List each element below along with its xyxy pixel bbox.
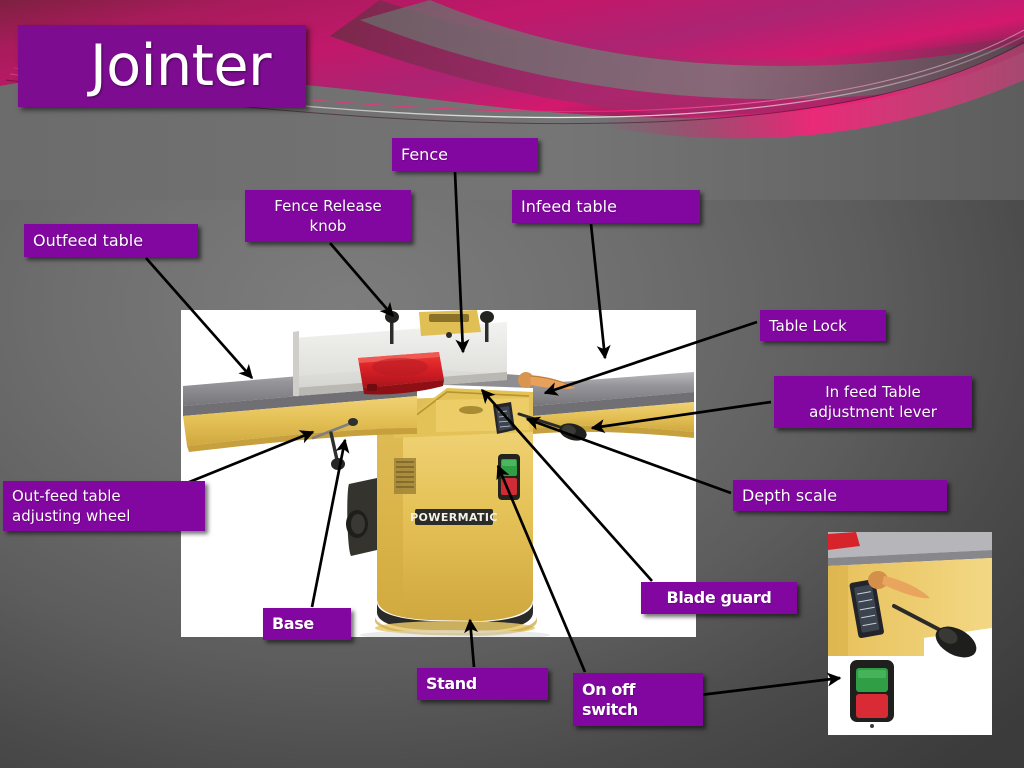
label-line: In feed Table bbox=[825, 382, 921, 402]
label-fence-release-knob[interactable]: Fence Releaseknob bbox=[245, 190, 411, 242]
label-line: switch bbox=[582, 700, 638, 720]
label-line: adjusting wheel bbox=[12, 506, 130, 526]
label-outfeed-table[interactable]: Outfeed table bbox=[24, 224, 198, 257]
label-line: Stand bbox=[426, 674, 477, 694]
label-infeed-table-adjustment-lever[interactable]: In feed Tableadjustment lever bbox=[774, 376, 972, 428]
label-base[interactable]: Base bbox=[263, 608, 351, 640]
label-outfeed-table-adjusting-wheel[interactable]: Out-feed tableadjusting wheel bbox=[3, 481, 205, 531]
label-stand[interactable]: Stand bbox=[417, 668, 548, 700]
detail-inset-photo bbox=[828, 532, 992, 735]
label-fence[interactable]: Fence bbox=[392, 138, 538, 171]
label-line: Infeed table bbox=[521, 197, 617, 217]
label-on-off-switch[interactable]: On offswitch bbox=[573, 673, 703, 726]
machine-blade-guard bbox=[358, 352, 444, 395]
label-table-lock[interactable]: Table Lock bbox=[760, 310, 886, 341]
label-line: knob bbox=[310, 216, 347, 236]
label-line: On off bbox=[582, 680, 635, 700]
label-line: Fence Release bbox=[274, 196, 381, 216]
label-blade-guard[interactable]: Blade guard bbox=[641, 582, 797, 614]
label-line: Depth scale bbox=[742, 486, 837, 506]
label-depth-scale[interactable]: Depth scale bbox=[733, 480, 947, 511]
label-line: adjustment lever bbox=[809, 402, 937, 422]
brand-label: POWERMATIC bbox=[410, 511, 498, 524]
inset-power-switch bbox=[850, 660, 894, 728]
label-line: Outfeed table bbox=[33, 231, 143, 251]
slide-canvas: Jointer bbox=[0, 0, 1024, 768]
label-line: Out-feed table bbox=[12, 486, 121, 506]
label-line: Table Lock bbox=[769, 316, 847, 336]
label-infeed-table[interactable]: Infeed table bbox=[512, 190, 700, 223]
label-line: Base bbox=[272, 614, 314, 634]
page-title: Jointer bbox=[18, 36, 271, 96]
slide-title-box: Jointer bbox=[18, 25, 306, 107]
main-jointer-photo: POWERMATIC bbox=[181, 310, 696, 637]
label-line: Blade guard bbox=[667, 588, 772, 608]
label-line: Fence bbox=[401, 145, 448, 165]
